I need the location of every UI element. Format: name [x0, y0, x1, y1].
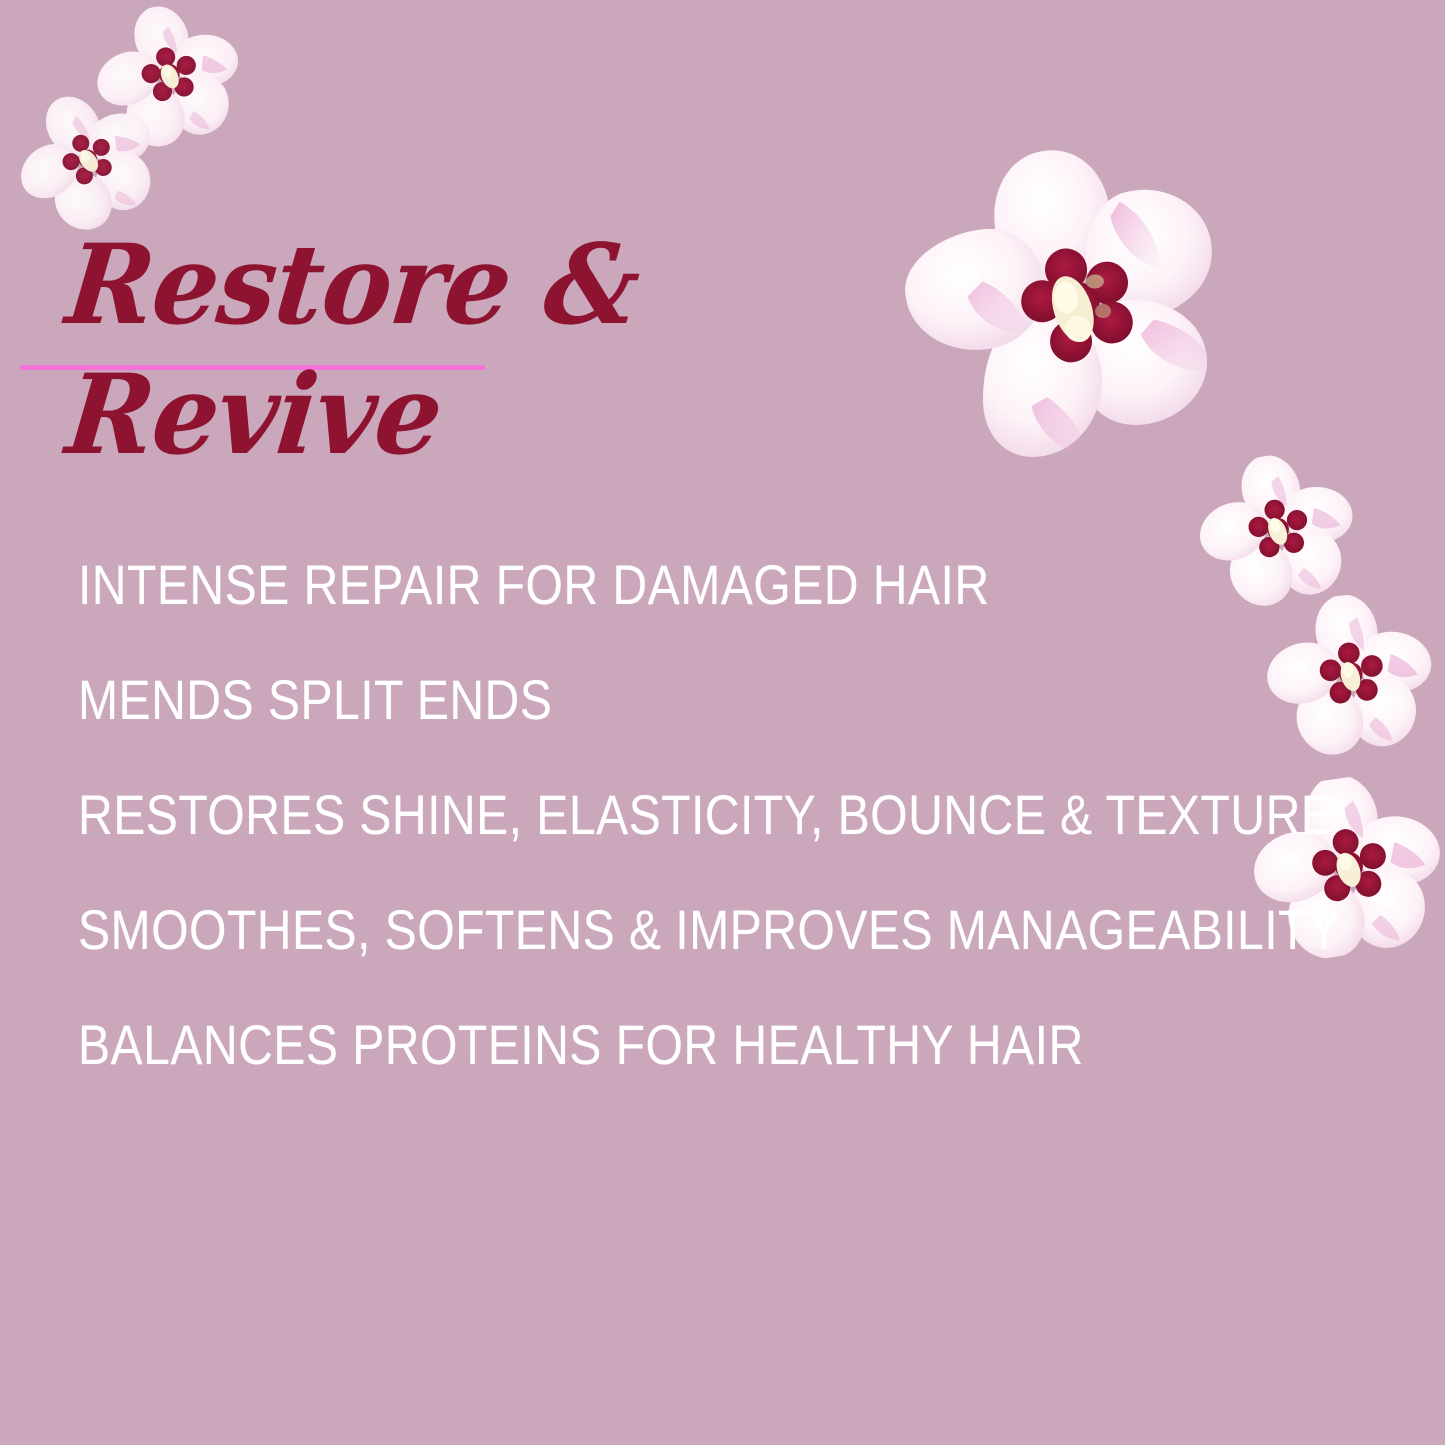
benefit-item: INTENSE REPAIR FOR DAMAGED HAIR [78, 527, 1196, 642]
flower-top-left-upper-icon [79, 0, 260, 160]
poster-canvas: Restore & Revive INTENSE REPAIR FOR DAMA… [0, 0, 1445, 1445]
headline-line-1: Restore & [62, 230, 644, 340]
benefit-item: BALANCES PROTEINS FOR HEALTHY HAIR [78, 987, 1196, 1102]
flower-hero-icon [869, 116, 1252, 480]
benefits-list: INTENSE REPAIR FOR DAMAGED HAIR MENDS SP… [78, 527, 1378, 1102]
benefit-item: RESTORES SHINE, ELASTICITY, BOUNCE & TEX… [78, 757, 1196, 872]
benefit-item: MENDS SPLIT ENDS [78, 642, 1196, 757]
benefit-item: SMOOTHES, SOFTENS & IMPROVES MANAGEABILI… [78, 872, 1196, 987]
headline-line-2: Revive [62, 360, 447, 470]
